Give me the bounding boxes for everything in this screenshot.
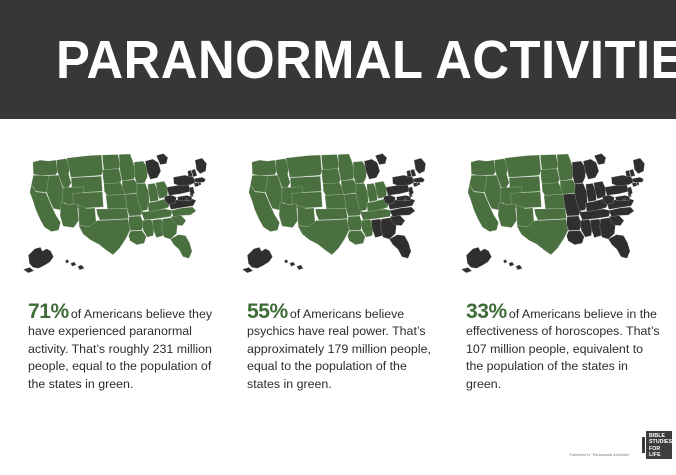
state-dc: [185, 198, 187, 200]
state-mi: [145, 154, 168, 180]
state-ks: [106, 194, 128, 209]
stat-percent-3: 33%: [466, 300, 507, 323]
stat-caption-3: 33%of Americans believe in the effective…: [452, 303, 662, 393]
bible-studies-for-life-logo: BIBLE STUDIES FOR LIFE: [642, 431, 672, 459]
state-ak: [23, 247, 53, 273]
state-la: [567, 231, 585, 245]
state-pa: [605, 184, 629, 195]
state-ok: [96, 208, 128, 220]
state-az: [60, 202, 79, 227]
state-fl: [608, 235, 630, 259]
stat-percent-1: 71%: [28, 300, 69, 323]
logo-box: BIBLE STUDIES FOR LIFE: [646, 431, 672, 459]
state-me: [633, 158, 645, 174]
state-me: [195, 158, 207, 174]
logo-tick-icon: [642, 437, 645, 453]
state-fl: [170, 235, 192, 259]
state-sd: [322, 169, 341, 184]
state-wi: [353, 161, 367, 184]
state-ks: [544, 194, 566, 209]
state-mi: [583, 154, 606, 180]
state-ar: [348, 216, 363, 231]
us-map-psychics-real-power: [233, 147, 443, 283]
state-mt: [505, 155, 541, 177]
us-map-paranormal-experience: [14, 147, 224, 283]
logo-line-3: FOR LIFE: [649, 446, 669, 459]
stat-column-2: 55%of Americans believe psychics have re…: [233, 147, 443, 393]
state-az: [279, 202, 298, 227]
state-wa: [252, 160, 277, 175]
state-la: [348, 231, 366, 245]
state-mn: [338, 154, 355, 181]
state-wa: [33, 160, 58, 175]
stat-percent-2: 55%: [247, 300, 288, 323]
stat-caption-1: 71%of Americans believe they have experi…: [14, 303, 224, 393]
state-ct: [413, 182, 418, 187]
state-fl: [389, 235, 411, 259]
state-az: [498, 202, 517, 227]
state-ny: [173, 175, 195, 186]
state-mn: [119, 154, 136, 181]
state-dc: [623, 198, 625, 200]
footer-note: Published in “Paranormal Activities”: [569, 453, 630, 457]
state-me: [414, 158, 426, 174]
state-dc: [404, 198, 406, 200]
state-ak: [461, 247, 491, 273]
state-ne: [104, 183, 125, 196]
state-pa: [386, 184, 410, 195]
page-title: PARANORMAL ACTIVITIES: [56, 33, 676, 87]
state-ny: [392, 175, 414, 186]
state-mt: [286, 155, 322, 177]
state-md: [615, 195, 630, 201]
us-map-horoscope-effectiveness: [452, 147, 662, 283]
state-nd: [102, 155, 120, 170]
state-hi: [284, 259, 303, 270]
state-hi: [65, 259, 84, 270]
state-sd: [541, 169, 560, 184]
state-mt: [67, 155, 103, 177]
state-nd: [321, 155, 339, 170]
state-ar: [129, 216, 144, 231]
state-nd: [540, 155, 558, 170]
state-mn: [557, 154, 574, 181]
footer: Published in “Paranormal Activities” BIB…: [0, 423, 676, 467]
state-sd: [103, 169, 122, 184]
state-wa: [471, 160, 496, 175]
state-wi: [134, 161, 148, 184]
state-hi: [503, 259, 522, 270]
state-md: [396, 195, 411, 201]
state-ct: [194, 182, 199, 187]
stat-columns: 71%of Americans believe they have experi…: [0, 119, 676, 393]
state-md: [177, 195, 192, 201]
state-ct: [632, 182, 637, 187]
state-ak: [242, 247, 272, 273]
state-ma: [194, 177, 206, 182]
stat-column-1: 71%of Americans believe they have experi…: [14, 147, 224, 393]
state-mi: [364, 154, 387, 180]
state-ne: [323, 183, 344, 196]
state-wi: [572, 161, 586, 184]
state-ok: [315, 208, 347, 220]
state-ne: [542, 183, 563, 196]
state-la: [129, 231, 147, 245]
header-bar: PARANORMAL ACTIVITIES: [0, 0, 676, 119]
state-ok: [534, 208, 566, 220]
main-content: 71%of Americans believe they have experi…: [0, 119, 676, 393]
state-ks: [325, 194, 347, 209]
state-ar: [567, 216, 582, 231]
stat-column-3: 33%of Americans believe in the effective…: [452, 147, 662, 393]
state-ma: [632, 177, 644, 182]
stat-caption-2: 55%of Americans believe psychics have re…: [233, 303, 443, 393]
state-ma: [413, 177, 425, 182]
state-pa: [167, 184, 191, 195]
state-ny: [611, 175, 633, 186]
